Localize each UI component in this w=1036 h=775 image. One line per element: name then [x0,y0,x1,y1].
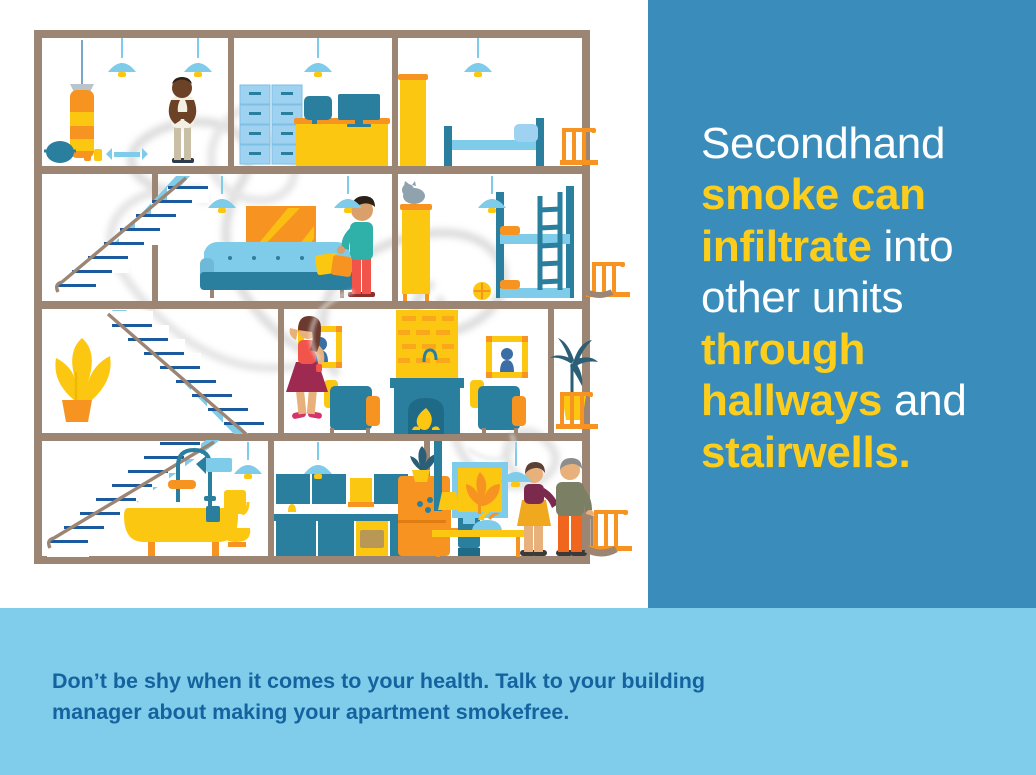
pendant-lamp [304,442,332,479]
wall-partition [392,38,398,168]
dumbbell [94,149,102,161]
balcony-railing [588,510,632,551]
pendant-lamp [184,38,212,77]
cabinet [400,181,432,301]
wardrobe [400,78,426,166]
headline-line-1: Secondhand [701,119,945,168]
pendant-lamp [304,38,332,77]
headline-line-3-plain: into [872,222,954,271]
brick-chimney [396,310,458,380]
bathroom [48,440,250,556]
building-cross-section-svg [0,0,648,608]
bedroom [398,38,598,166]
framed-portrait-right [486,336,528,378]
bottom-banner: Don’t be shy when it comes to your healt… [0,608,1036,775]
pendant-lamp [464,38,492,77]
pendant-lamp [108,38,136,77]
framed-leaf-art [452,462,508,518]
floor-slab-4 [38,556,586,564]
floor-top [44,38,598,168]
shower-head [168,480,196,489]
floor-slab-2 [38,301,586,309]
apartment-cutaway-illustration [0,0,648,608]
balcony-railing [560,128,598,165]
upper-cabinets [276,474,408,507]
bunk-bed [496,186,574,298]
hallway-stairwell [55,310,264,434]
wall-partition [278,309,284,435]
headline-line-6-plain: and [882,376,966,425]
headline-line-2: smoke can [701,170,926,219]
floor-ground [48,440,632,559]
kitchen-faucet [288,504,296,512]
headline-line-5: through [701,325,865,374]
office-chair [304,96,332,124]
wall-partition [392,174,398,302]
poster-root: Secondhand smoke can infiltrate into oth… [0,0,1036,775]
headline-line-4: other units [701,273,903,322]
single-bed [444,118,544,166]
flower-pot [62,400,92,422]
wall-partition [268,441,274,559]
pendant-lamp [234,442,262,479]
office-room [240,38,390,166]
wall-partition [228,38,234,168]
exercise-ball [46,141,74,163]
cat [402,181,425,204]
floor-third [55,309,598,435]
kids-room [473,176,630,300]
gym-room [44,38,212,163]
floor-slab-1 [38,166,586,174]
headline-line-7: stairwells. [701,428,910,477]
faucet [204,496,216,501]
floor-slab-3 [38,433,586,441]
waste-bin [206,506,220,522]
towel-rack [196,456,232,474]
armchair-left [324,380,380,435]
filing-cabinets [240,85,302,164]
wall-partition [548,309,554,435]
dumbbell [84,152,91,161]
headline-panel: Secondhand smoke can infiltrate into oth… [648,0,1036,608]
bathtub [124,508,238,556]
cta-line-2: manager about making your apartment smok… [52,700,569,724]
sofa [200,242,354,298]
cta-line-1: Don’t be shy when it comes to your healt… [52,669,705,693]
standing-person [169,77,197,163]
cistern [224,490,246,514]
cushion [331,255,354,278]
potted-plant-left [55,338,110,422]
call-to-action-text: Don’t be shy when it comes to your healt… [52,666,752,727]
headline-text: Secondhand smoke can infiltrate into oth… [701,118,1031,478]
desk [296,122,388,166]
headline-line-3-bold: infiltrate [701,222,872,271]
headline-line-6-bold: hallways [701,376,882,425]
pendant-lamp [334,176,362,213]
armchair-right [470,380,526,435]
pillow [514,124,538,142]
